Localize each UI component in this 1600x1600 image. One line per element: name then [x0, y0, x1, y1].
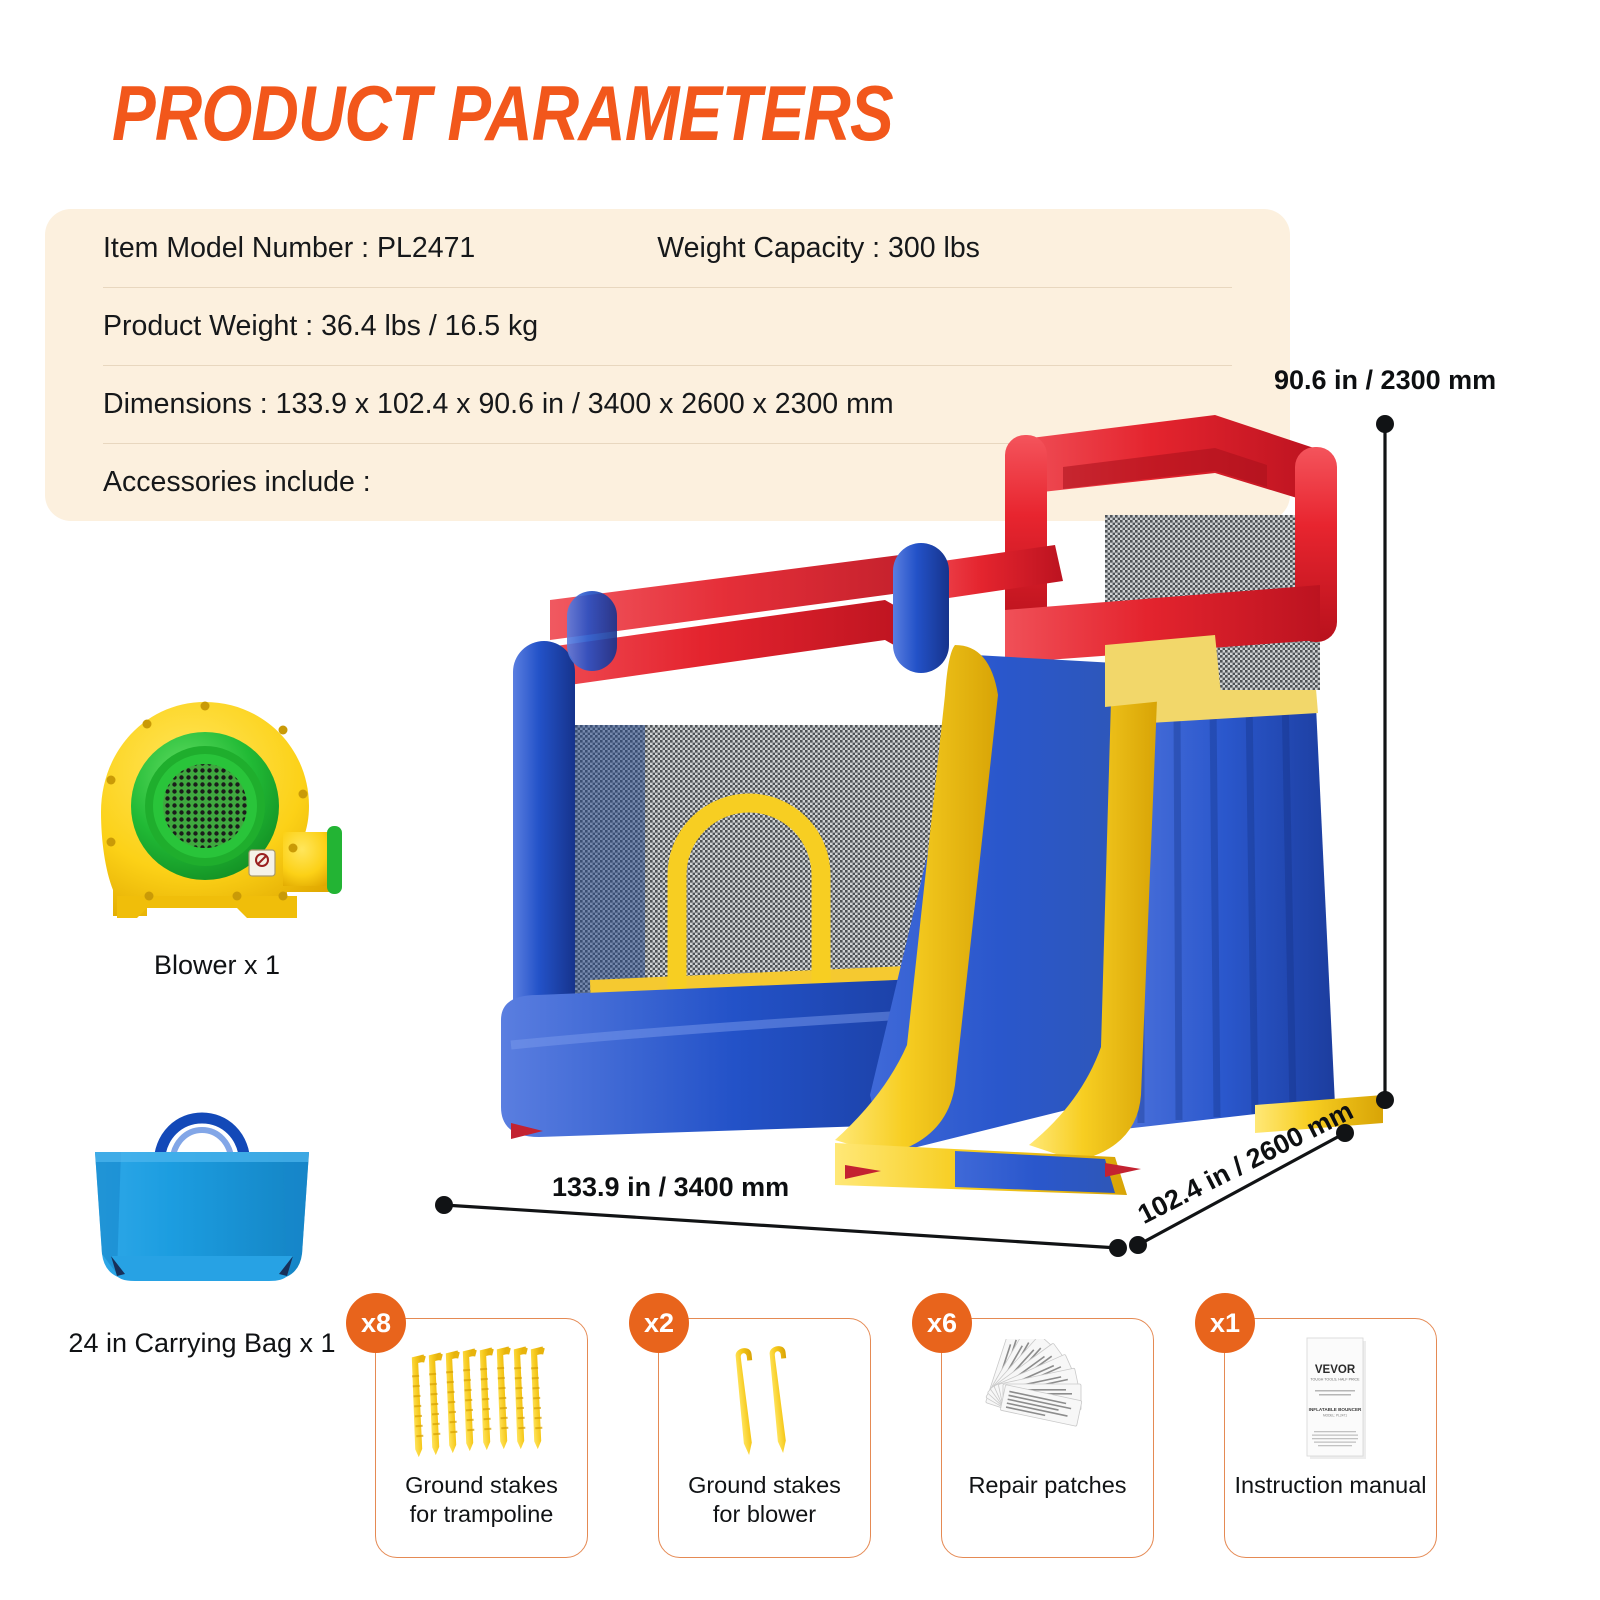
- accessory-card-ground-stakes-trampoline: x8: [375, 1318, 588, 1558]
- repair-patches-icon: [942, 1335, 1153, 1463]
- manual-product-name: INFLATABLE BOUNCER: [1308, 1407, 1361, 1412]
- blower-icon: [62, 690, 372, 940]
- accessory-card-label: Ground stakes for blower: [688, 1471, 841, 1529]
- dimension-height-label: 90.6 in / 2300 mm: [1274, 365, 1496, 396]
- accessory-cards-row: x8: [375, 1318, 1555, 1573]
- accessory-blower: Blower x 1: [62, 690, 372, 981]
- quantity-badge: x1: [1195, 1293, 1255, 1353]
- ground-stakes-trampoline-icon: [376, 1335, 587, 1463]
- carrying-bag-icon: [42, 1068, 362, 1318]
- quantity-badge: x2: [629, 1293, 689, 1353]
- ground-stakes-blower-icon: [659, 1335, 870, 1463]
- carrying-bag-caption: 24 in Carrying Bag x 1: [42, 1328, 362, 1359]
- manual-tagline: TOUGH TOOLS, HALF PRICE: [1310, 1378, 1360, 1382]
- accessory-card-instruction-manual: x1 VEVOR TOUGH TOOLS, HALF PRICE INFLATA…: [1224, 1318, 1437, 1558]
- accessory-card-ground-stakes-blower: x2 Ground stakes for blower: [658, 1318, 871, 1558]
- accessory-card-label: Ground stakes for trampoline: [405, 1471, 558, 1529]
- blower-caption: Blower x 1: [62, 950, 372, 981]
- accessory-card-label: Instruction manual: [1234, 1471, 1426, 1500]
- instruction-manual-icon: VEVOR TOUGH TOOLS, HALF PRICE INFLATABLE…: [1225, 1335, 1436, 1463]
- quantity-badge: x6: [912, 1293, 972, 1353]
- quantity-badge: x8: [346, 1293, 406, 1353]
- manual-brand: VEVOR: [1314, 1364, 1355, 1376]
- accessory-carrying-bag: 24 in Carrying Bag x 1: [42, 1068, 362, 1359]
- dimension-width-label: 133.9 in / 3400 mm: [552, 1172, 789, 1203]
- accessory-card-repair-patches: x6: [941, 1318, 1154, 1558]
- manual-model-line: MODEL: PL2471: [1322, 1414, 1346, 1418]
- accessory-card-label: Repair patches: [968, 1471, 1126, 1500]
